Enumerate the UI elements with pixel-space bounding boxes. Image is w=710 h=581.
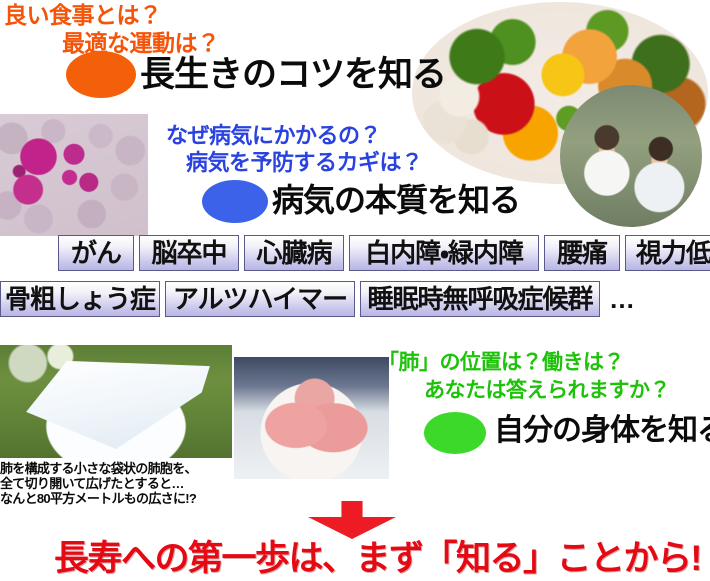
lung-caption-line2: 全て切り開いて広げたとすると… xyxy=(0,476,184,491)
longevity-question-line1: 良い食事とは？ xyxy=(4,4,162,27)
disease-tag-row-1: がん 脳卒中 心臓病 白内障・緑内障 腰痛 視力低下 xyxy=(58,235,710,271)
tag-cataract-glaucoma[interactable]: 白内障・緑内障 xyxy=(349,235,539,271)
white-sheet-on-lawn-photo xyxy=(0,345,232,458)
conclusion-text: 長寿への第一歩は、まず「知る」ことから! xyxy=(54,541,701,576)
tag-sleep-apnea[interactable]: 睡眠時無呼吸症候群 xyxy=(360,281,600,317)
disease-headline: 病気の本質を知る xyxy=(272,184,520,216)
lung-caption-line3: なんと80平方メートルもの広さに!? xyxy=(0,491,196,506)
blood-smear-photo xyxy=(0,114,148,236)
lung-specimen-photo xyxy=(234,357,389,479)
tag-osteoporosis[interactable]: 骨粗しょう症 xyxy=(0,281,160,317)
poster-root: 良い食事とは？ 最適な運動は？ 長生きのコツを知る なぜ病気にかかるの？ 病気を… xyxy=(0,0,710,581)
tag-back-pain[interactable]: 腰痛 xyxy=(544,235,620,271)
disease-question-line1: なぜ病気にかかるの？ xyxy=(166,125,381,147)
tag-list-ellipsis: … xyxy=(605,286,635,312)
disease-question-line2: 病気を予防するカギは？ xyxy=(186,152,423,174)
longevity-question-line2: 最適な運動は？ xyxy=(62,32,220,55)
body-question-line1: 「肺」の位置は？働きは？ xyxy=(378,352,624,373)
tag-stroke[interactable]: 脳卒中 xyxy=(139,235,239,271)
tag-alzheimer[interactable]: アルツハイマー xyxy=(165,281,355,317)
disease-tag-row-2: 骨粗しょう症 アルツハイマー 睡眠時無呼吸症候群 … xyxy=(0,281,635,317)
lung-caption-line1: 肺を構成する小さな袋状の肺胞を、 xyxy=(0,461,197,476)
down-arrow-icon xyxy=(308,501,396,539)
sheet-shape xyxy=(14,361,218,449)
orange-ellipse-bullet-icon xyxy=(66,51,136,98)
blue-ellipse-bullet-icon xyxy=(202,180,268,223)
longevity-headline: 長生きのコツを知る xyxy=(140,57,446,92)
green-ellipse-bullet-icon xyxy=(424,412,486,454)
body-headline: 自分の身体を知る xyxy=(494,416,710,446)
tag-heart-disease[interactable]: 心臓病 xyxy=(244,235,344,271)
tag-vision-decline[interactable]: 視力低下 xyxy=(625,235,710,271)
tag-cancer[interactable]: がん xyxy=(58,235,134,271)
elderly-couple-photo xyxy=(560,85,702,227)
body-question-line2: あなたは答えられますか？ xyxy=(424,380,670,401)
